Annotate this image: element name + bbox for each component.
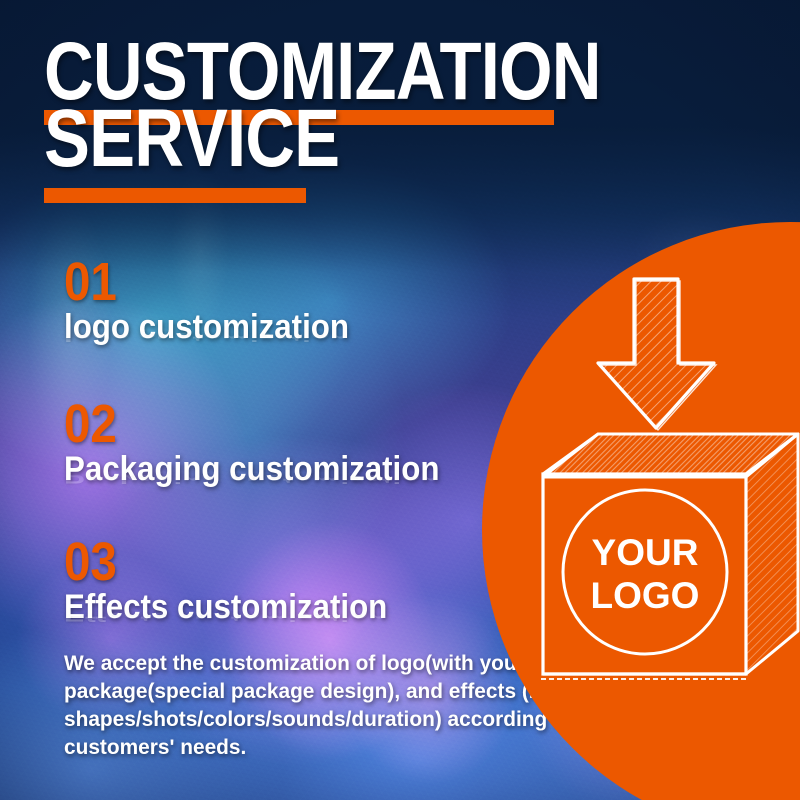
down-arrow-icon <box>598 279 716 430</box>
your-logo-line-1: YOUR <box>592 532 699 573</box>
feature-label-1-text: logo customization <box>64 308 349 346</box>
feature-item-2: 02 Packaging customization Packaging cus… <box>64 400 472 486</box>
heading-line-2: SERVICE <box>44 105 565 172</box>
feature-number-1: 01 <box>64 258 337 308</box>
customization-service-banner: CUSTOMIZATION SERVICE 01 logo customizat… <box>0 0 800 800</box>
feature-number-2: 02 <box>64 400 423 450</box>
your-logo-line-2: LOGO <box>591 575 700 616</box>
heading-underline-bar-2 <box>44 188 306 203</box>
feature-item-3: 03 Effects customization Effects customi… <box>64 538 415 624</box>
feature-label-2: Packaging customization Packaging custom… <box>64 452 439 487</box>
customization-graphic: YOUR LOGO <box>482 222 800 800</box>
feature-label-3-text: Effects customization <box>64 588 387 626</box>
feature-label-2-text: Packaging customization <box>64 450 439 488</box>
feature-item-1: 01 logo customization logo customization <box>64 258 374 344</box>
feature-label-3: Effects customization Effects customizat… <box>64 590 387 625</box>
feature-number-3: 03 <box>64 538 373 588</box>
feature-label-1: logo customization logo customization <box>64 310 349 345</box>
banner-heading: CUSTOMIZATION SERVICE <box>44 38 664 172</box>
